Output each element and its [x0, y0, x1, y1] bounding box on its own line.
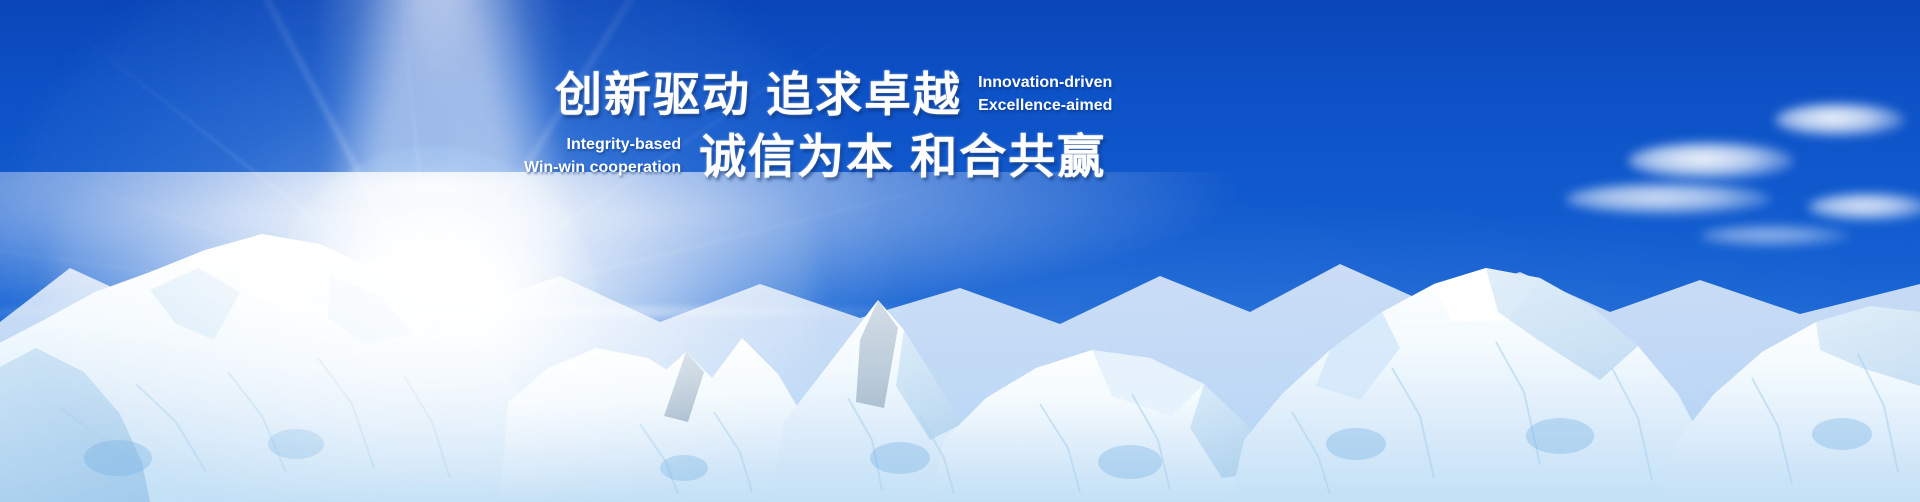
hero-banner: 创新驱动 追求卓越 Innovation-driven Excellence-a…	[0, 0, 1920, 502]
cloud-far-right-upper	[1775, 103, 1905, 137]
snow-capped-mountain-range	[0, 172, 1920, 502]
mountain-sun-wash	[0, 172, 1920, 502]
